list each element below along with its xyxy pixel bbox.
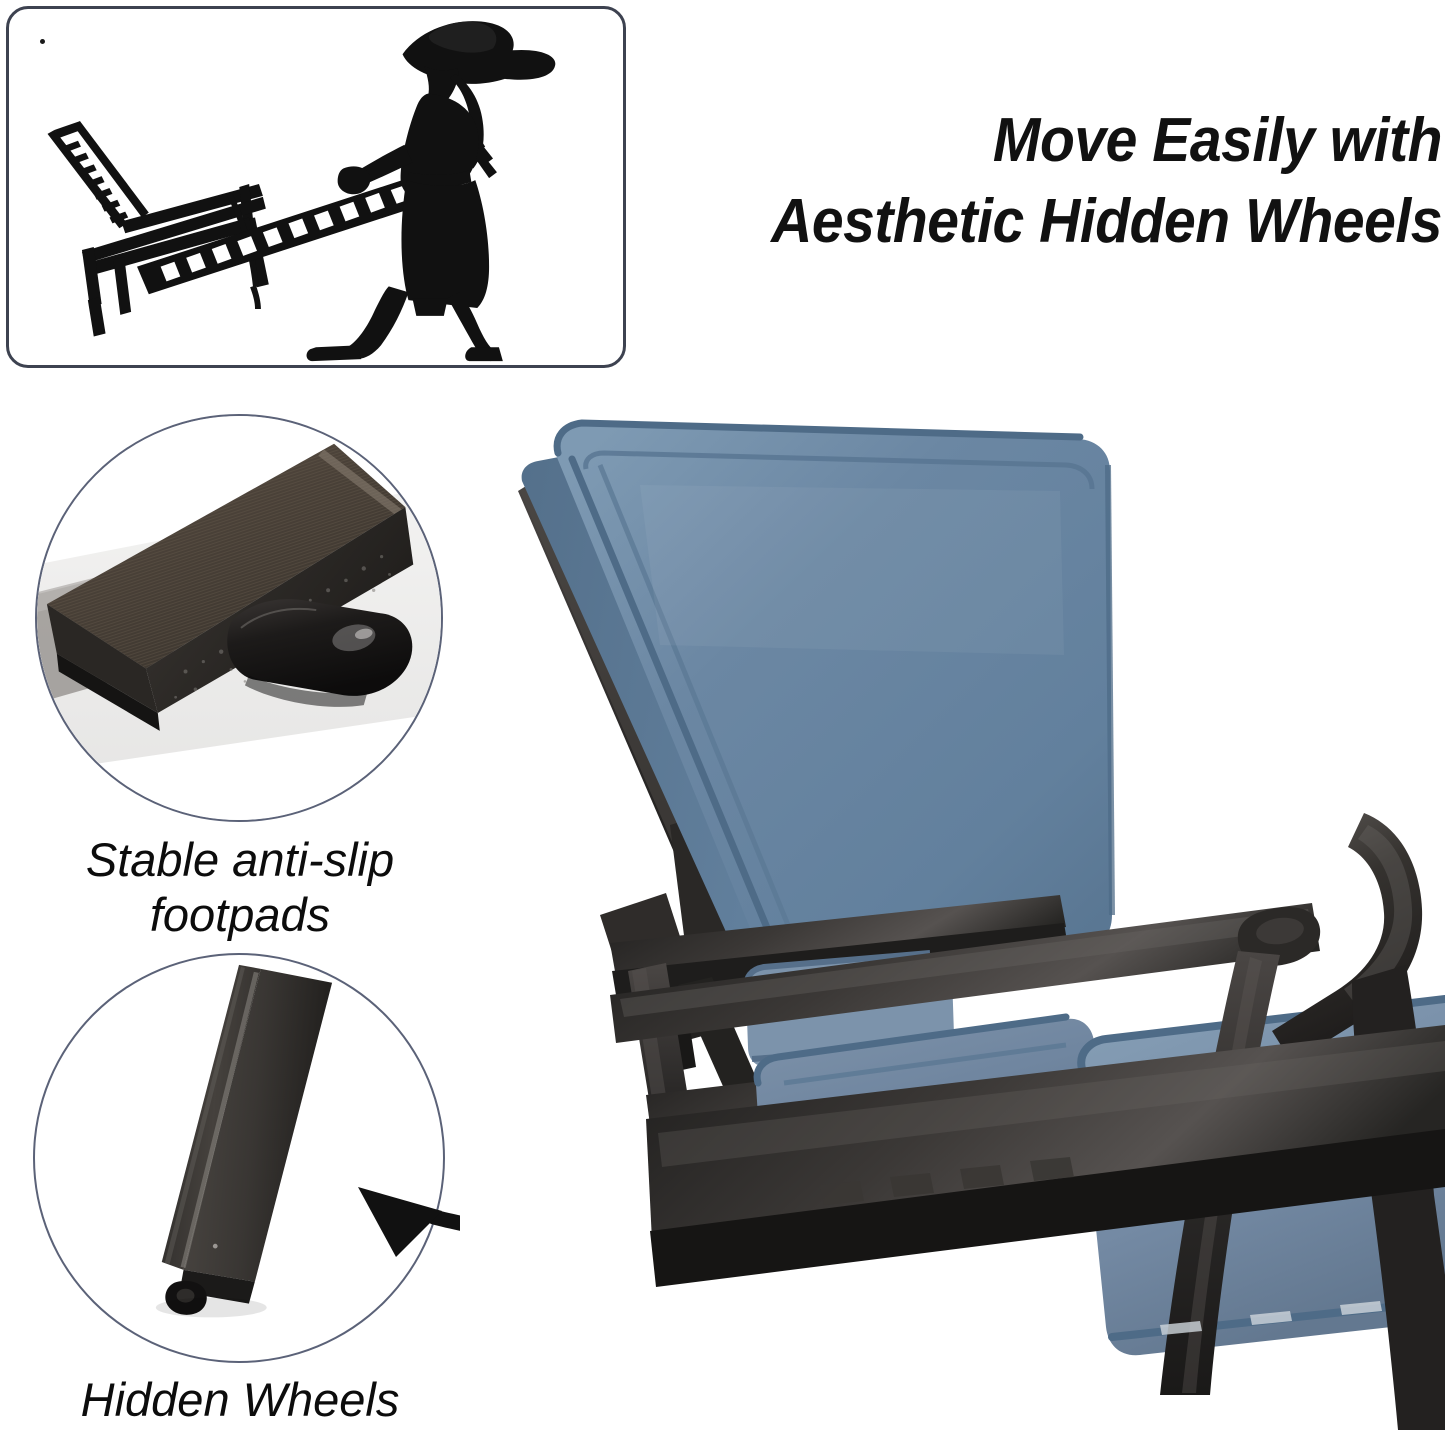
feature-circle-hidden-wheels	[33, 953, 445, 1363]
page-title: Move Easily with Aesthetic Hidden Wheels	[695, 100, 1442, 264]
headline-line-2: Aesthetic Hidden Wheels	[695, 181, 1442, 263]
anti-slip-footpad-closeup-image	[37, 416, 441, 820]
chaise-lounge-chair-illustration	[460, 395, 1445, 1430]
feature-caption-hidden-wheels: Hidden Wheels	[20, 1372, 460, 1427]
illustration-panel	[6, 6, 626, 368]
hidden-wheel-leg-closeup-image	[35, 955, 443, 1361]
footpads-caption-line-1: Stable anti-slip	[20, 832, 460, 887]
product-photo-chaise-lounge	[460, 395, 1445, 1430]
hidden-wheels-caption-line-1: Hidden Wheels	[20, 1372, 460, 1427]
woman-pulling-chair-silhouette-icon	[9, 9, 623, 365]
footpads-caption-line-2: footpads	[20, 887, 460, 942]
feature-circle-footpads	[35, 414, 443, 822]
panel-dot-artifact	[40, 39, 45, 44]
feature-caption-footpads: Stable anti-slip footpads	[20, 832, 460, 943]
headline-line-1: Move Easily with	[695, 100, 1442, 182]
